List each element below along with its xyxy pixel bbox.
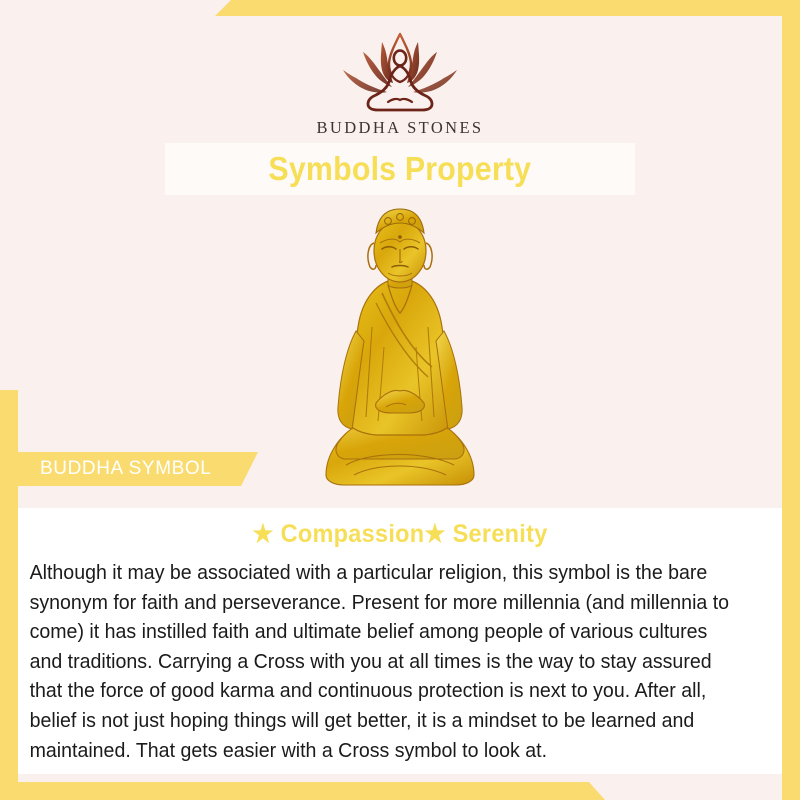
lotus-meditation-figure-icon [325,30,475,116]
page-title-box: Symbols Property [165,143,635,195]
poster-canvas: BUDDHA STONES Symbols Property [0,0,800,800]
page-title: Symbols Property [269,150,532,188]
decoration-left-bar [0,390,18,800]
decoration-top-bar [215,0,800,16]
decoration-bottom-bar [0,782,605,800]
content-panel: ★ Compassion★ Serenity Although it may b… [18,508,782,774]
brand-wordmark: BUDDHA STONES [316,118,483,138]
buddha-statue-icon [18,202,782,492]
section-ribbon-label: BUDDHA SYMBOL [18,458,211,480]
brand-logo: BUDDHA STONES [18,30,782,138]
content-paragraph: Although it may be associated with a par… [18,549,755,766]
section-ribbon: BUDDHA SYMBOL [18,452,258,486]
decoration-right-bar [782,0,800,800]
content-headline: ★ Compassion★ Serenity [41,508,759,549]
